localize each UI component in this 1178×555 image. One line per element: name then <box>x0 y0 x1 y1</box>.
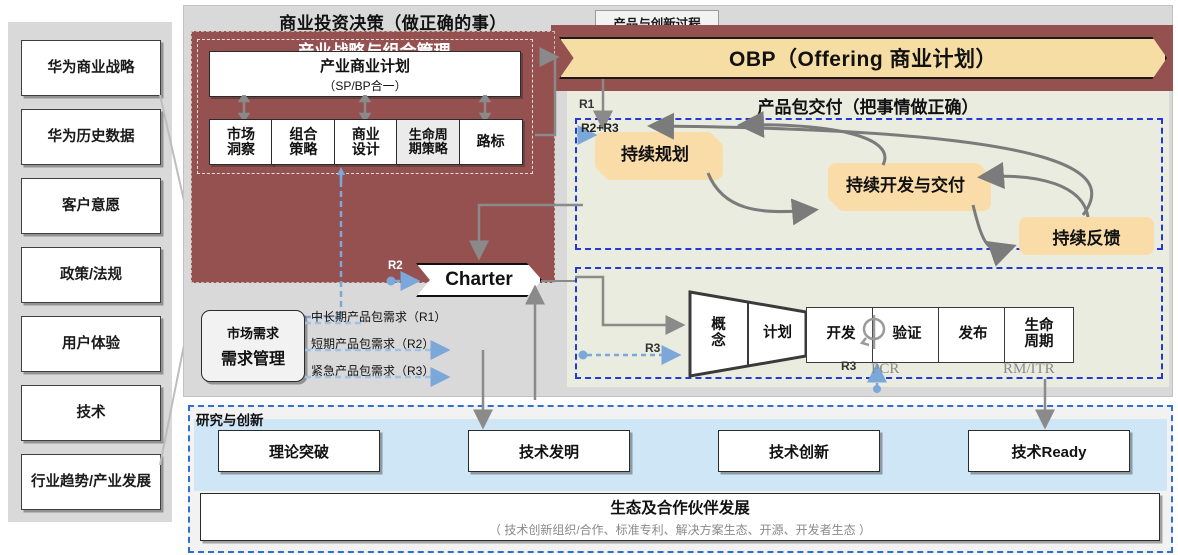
demand-title: 需求管理 <box>221 345 285 369</box>
sidebar-item-label: 华为历史数据 <box>48 128 135 146</box>
marker-r3-left: R3 <box>645 341 660 355</box>
rm-itr-label: RM/ITR <box>1003 361 1055 378</box>
business-plan-line1: 产业商业计划 <box>320 55 410 76</box>
stage-plan[interactable]: 计划 <box>750 305 805 363</box>
stage-concept[interactable]: 概 念 <box>691 300 746 368</box>
stage-release[interactable]: 发布 <box>938 307 1008 363</box>
strategy-cell-1[interactable]: 组合 策略 <box>271 119 335 165</box>
sidebar: 华为商业战略 华为历史数据 客户意愿 政策/法规 用户体验 技术 行业趋势/产业… <box>8 22 172 522</box>
sidebar-item-2[interactable]: 客户意愿 <box>21 178 161 234</box>
marker-r1: R1 <box>579 97 594 111</box>
sidebar-item-5[interactable]: 技术 <box>21 385 161 441</box>
page-title-text: 商业投资决策（做正确的事） <box>279 9 507 34</box>
strategy-cell-0[interactable]: 市场 洞察 <box>209 119 273 165</box>
charter-badge[interactable]: Charter <box>416 263 542 297</box>
sidebar-item-0[interactable]: 华为商业战略 <box>21 40 161 96</box>
sidebar-item-3[interactable]: 政策/法规 <box>21 247 161 303</box>
requirement-label-r1: 中长期产品包需求（R1） <box>311 308 446 325</box>
agile-card-continuous-planning[interactable]: 持续规划 <box>595 132 715 172</box>
sidebar-item-label: 技术 <box>77 404 106 422</box>
strategy-cell-2[interactable]: 商业 设计 <box>334 119 398 165</box>
sidebar-item-label: 政策/法规 <box>60 266 122 284</box>
sidebar-item-label: 客户意愿 <box>62 197 120 215</box>
research-title: 研究与创新 <box>196 409 264 429</box>
business-plan-line2: （SP/BP合一） <box>323 77 406 94</box>
strategy-cell-4[interactable]: 路标 <box>459 119 523 165</box>
sidebar-item-1[interactable]: 华为历史数据 <box>21 109 161 165</box>
sidebar-item-label: 华为商业战略 <box>48 59 135 77</box>
stage-verify[interactable]: 验证 <box>872 307 942 363</box>
ecosystem-subtitle: （ 技术创新组织/合作、标准专利、解决方案生态、开源、开发者生态 ） <box>489 521 871 538</box>
tech-box-0[interactable]: 理论突破 <box>218 430 380 472</box>
ecosystem-title: 生态及合作伙伴发展 <box>610 496 750 518</box>
agile-card-continuous-dev-delivery[interactable]: 持续开发与交付 <box>828 163 983 203</box>
demand-management-box[interactable]: 市场需求 需求管理 <box>201 310 305 382</box>
obp-label: OBP（Offering 商业计划） <box>729 43 997 73</box>
marker-r3-bottom: R3 <box>841 359 856 373</box>
stage-develop[interactable]: 开发 <box>806 307 876 363</box>
strategy-cells-row: 市场 洞察 组合 策略 商业 设计 生命周 期策略 路标 <box>209 119 521 165</box>
stage-lifecycle[interactable]: 生命 周期 <box>1004 307 1074 363</box>
industry-business-plan-box[interactable]: 产业商业计划 （SP/BP合一） <box>209 51 521 97</box>
diagram-root: 华为商业战略 华为历史数据 客户意愿 政策/法规 用户体验 技术 行业趋势/产业… <box>0 0 1178 555</box>
tech-box-3[interactable]: 技术Ready <box>968 430 1130 472</box>
delivery-title: 产品包交付（把事情做正确） <box>567 93 1169 117</box>
demand-caption: 市场需求 <box>227 323 279 342</box>
obp-banner[interactable]: OBP（Offering 商业计划） <box>559 37 1167 79</box>
tech-box-1[interactable]: 技术发明 <box>468 430 630 472</box>
requirement-label-r2: 短期产品包需求（R2） <box>311 335 434 352</box>
plan-to-cells-arrows <box>209 95 521 121</box>
ecosystem-partner-box[interactable]: 生态及合作伙伴发展 （ 技术创新组织/合作、标准专利、解决方案生态、开源、开发者… <box>200 493 1160 541</box>
agile-card-continuous-feedback[interactable]: 持续反馈 <box>1019 217 1154 255</box>
requirement-label-r3: 紧急产品包需求（R3） <box>311 362 434 379</box>
strategy-cell-3[interactable]: 生命周 期策略 <box>396 119 460 165</box>
tech-box-2[interactable]: 技术创新 <box>718 430 880 472</box>
sidebar-item-label: 用户体验 <box>62 335 120 353</box>
marker-r2: R2 <box>388 260 403 272</box>
charter-label: Charter <box>445 269 513 291</box>
sidebar-item-6[interactable]: 行业趋势/产业发展 <box>21 454 161 510</box>
sidebar-item-label: 行业趋势/产业发展 <box>31 473 151 491</box>
main-canvas: 商业投资决策（做正确的事） 产品与创新过程 产业战略与组合管理 产业商业计划 （… <box>183 5 1173 550</box>
marker-r2-r3: R2+R3 <box>581 121 619 135</box>
pcr-label: PCR <box>871 361 899 378</box>
sidebar-item-4[interactable]: 用户体验 <box>21 316 161 372</box>
